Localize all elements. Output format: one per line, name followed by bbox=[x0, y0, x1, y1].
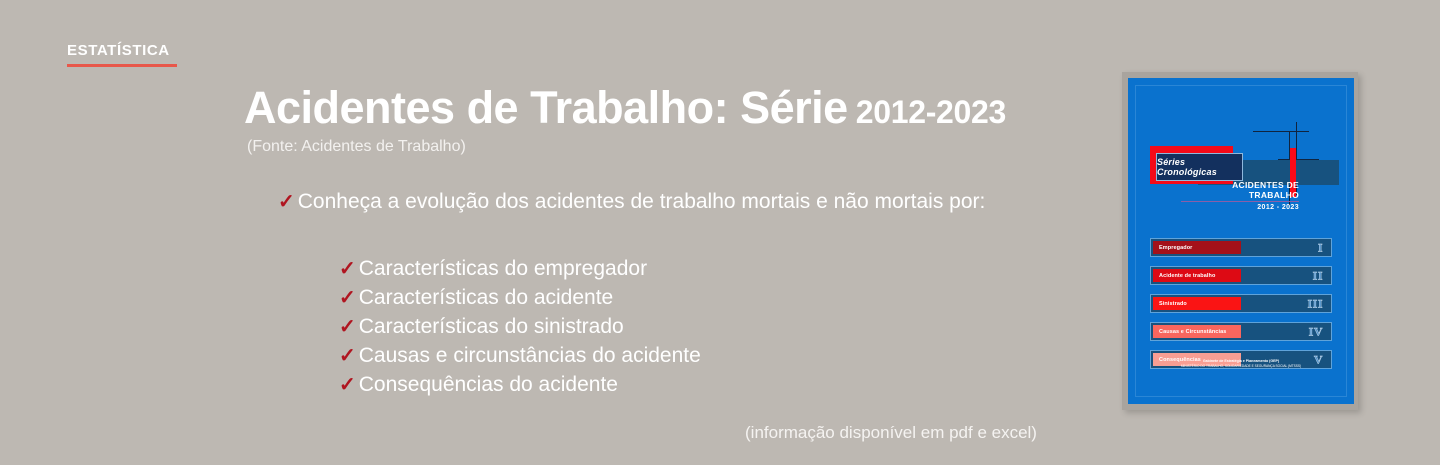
page-title-main: Acidentes de Trabalho: Série bbox=[244, 82, 848, 133]
availability-note: (informação disponível em pdf e excel) bbox=[745, 423, 1037, 443]
lead-statement-text: Conheça a evolução dos acidentes de trab… bbox=[298, 190, 986, 214]
cover-chapter-label: Sinistrado bbox=[1159, 301, 1187, 307]
cover-subject-block: ACIDENTES DE TRABALHO 2012 - 2023 bbox=[1181, 180, 1299, 211]
list-item: ✓ Características do acidente bbox=[339, 286, 701, 315]
cover-subject-title: ACIDENTES DE TRABALHO bbox=[1181, 180, 1299, 202]
cover-footer: Gabinete de Estratégia e Planeamento (GE… bbox=[1128, 359, 1354, 369]
list-item: ✓ Características do empregador bbox=[339, 257, 701, 286]
cover-chapter-row: Acidente de trabalho II bbox=[1150, 266, 1332, 285]
page-title: Acidentes de Trabalho: Série2012-2023 bbox=[244, 82, 1006, 134]
page-title-years: 2012-2023 bbox=[856, 94, 1006, 130]
list-item-label: Causas e circunstâncias do acidente bbox=[359, 344, 701, 368]
cover-chapter-label: Causas e Circunstâncias bbox=[1159, 329, 1226, 335]
list-item-label: Características do empregador bbox=[359, 257, 647, 281]
cover-chapter-numeral: I bbox=[1318, 240, 1323, 255]
list-item-label: Consequências do acidente bbox=[359, 373, 618, 397]
check-icon: ✓ bbox=[339, 375, 356, 395]
cover-chapter-numeral: IV bbox=[1309, 324, 1323, 339]
cover-chapter-row: Causas e Circunstâncias IV bbox=[1150, 322, 1332, 341]
cross-graphic-horizontal-top bbox=[1253, 131, 1309, 132]
list-item: ✓ Causas e circunstâncias do acidente bbox=[339, 344, 701, 373]
list-item: ✓ Consequências do acidente bbox=[339, 373, 701, 402]
kicker-label: ESTATÍSTICA bbox=[67, 42, 177, 60]
kicker-underline bbox=[67, 64, 177, 67]
list-item-label: Características do acidente bbox=[359, 286, 613, 310]
check-icon: ✓ bbox=[339, 317, 356, 337]
cover-chapter-row: Empregador I bbox=[1150, 238, 1332, 257]
source-note: (Fonte: Acidentes de Trabalho) bbox=[247, 138, 466, 156]
check-icon: ✓ bbox=[339, 259, 356, 279]
check-icon: ✓ bbox=[339, 346, 356, 366]
cover-chapter-row: Sinistrado III bbox=[1150, 294, 1332, 313]
cover-chapter-fill: Sinistrado bbox=[1153, 297, 1241, 310]
publication-cover-thumbnail[interactable]: Séries Cronológicas ACIDENTES DE TRABALH… bbox=[1122, 72, 1358, 410]
publication-cover: Séries Cronológicas ACIDENTES DE TRABALH… bbox=[1128, 78, 1354, 404]
cover-series-badge: Séries Cronológicas bbox=[1156, 153, 1243, 181]
cover-chapter-numeral: II bbox=[1313, 268, 1323, 283]
check-icon: ✓ bbox=[339, 288, 356, 308]
cover-chapter-fill: Empregador bbox=[1153, 241, 1241, 254]
feature-list: ✓ Características do empregador ✓ Caract… bbox=[339, 257, 701, 402]
cover-series-badge-label: Séries Cronológicas bbox=[1157, 157, 1242, 177]
check-icon: ✓ bbox=[278, 192, 295, 212]
list-item-label: Características do sinistrado bbox=[359, 315, 624, 339]
kicker-block: ESTATÍSTICA bbox=[67, 42, 177, 67]
cover-chapter-bars: Empregador I Acidente de trabalho II Sin… bbox=[1150, 238, 1332, 378]
cover-footer-line2: MINISTÉRIO DO TRABALHO, SOLIDARIEDADE E … bbox=[1128, 364, 1354, 369]
cover-chapter-fill: Causas e Circunstâncias bbox=[1153, 325, 1241, 338]
cover-chapter-fill: Acidente de trabalho bbox=[1153, 269, 1241, 282]
lead-statement: ✓ Conheça a evolução dos acidentes de tr… bbox=[278, 190, 985, 214]
cover-chapter-label: Acidente de trabalho bbox=[1159, 273, 1215, 279]
cover-chapter-numeral: III bbox=[1307, 296, 1323, 311]
cover-chapter-label: Empregador bbox=[1159, 245, 1192, 251]
cover-subject-years: 2012 - 2023 bbox=[1181, 204, 1299, 211]
list-item: ✓ Características do sinistrado bbox=[339, 315, 701, 344]
